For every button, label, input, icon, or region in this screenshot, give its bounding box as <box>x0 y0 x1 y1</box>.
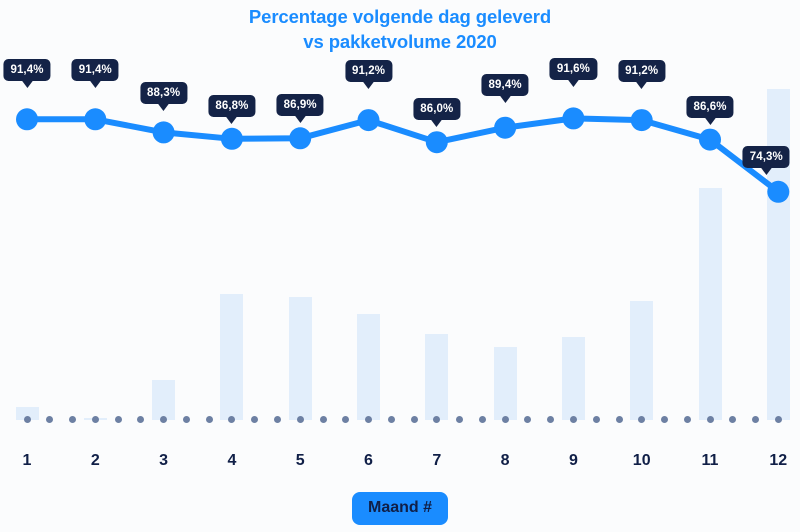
x-tick-label-4: 4 <box>227 452 236 470</box>
data-label-month-5: 86,9% <box>277 94 324 116</box>
x-axis-title-wrap: Maand # <box>0 492 800 525</box>
x-tick-label-9: 9 <box>569 452 578 470</box>
x-tick-label-11: 11 <box>702 452 719 470</box>
chart-container: Percentage volgende dag geleverd vs pakk… <box>0 0 800 532</box>
data-point-month-6[interactable] <box>358 109 380 131</box>
data-label-month-4: 86,8% <box>208 95 255 117</box>
data-label-month-9: 91,6% <box>550 58 597 80</box>
data-label-month-1: 91,4% <box>3 59 50 81</box>
plot-area: 91,4%91,4%88,3%86,8%86,9%91,2%86,0%89,4%… <box>0 0 800 452</box>
data-label-month-7: 86,0% <box>413 98 460 120</box>
data-point-month-10[interactable] <box>631 109 653 131</box>
x-tick-label-5: 5 <box>296 452 305 470</box>
line-series-percentage <box>0 0 800 452</box>
x-tick-label-3: 3 <box>159 452 168 470</box>
series-line-path <box>27 118 778 191</box>
x-tick-label-10: 10 <box>633 452 651 470</box>
data-label-month-6: 91,2% <box>345 60 392 82</box>
data-point-month-7[interactable] <box>426 131 448 153</box>
data-label-month-11: 86,6% <box>686 96 733 118</box>
data-point-month-11[interactable] <box>699 129 721 151</box>
data-point-month-5[interactable] <box>289 127 311 149</box>
data-label-month-10: 91,2% <box>618 60 665 82</box>
x-tick-label-7: 7 <box>432 452 441 470</box>
data-point-month-1[interactable] <box>16 108 38 130</box>
data-point-month-4[interactable] <box>221 128 243 150</box>
data-point-month-2[interactable] <box>84 108 106 130</box>
data-label-month-8: 89,4% <box>482 74 529 96</box>
data-point-month-12[interactable] <box>767 181 789 203</box>
x-tick-label-12: 12 <box>769 452 787 470</box>
x-tick-label-8: 8 <box>501 452 510 470</box>
data-point-month-3[interactable] <box>153 121 175 143</box>
data-point-month-8[interactable] <box>494 117 516 139</box>
x-tick-label-2: 2 <box>91 452 100 470</box>
data-label-month-12: 74,3% <box>743 146 790 168</box>
data-label-month-3: 88,3% <box>140 82 187 104</box>
x-axis-tick-labels: 123456789101112 <box>0 452 800 482</box>
data-label-month-2: 91,4% <box>72 59 119 81</box>
x-axis-title-badge[interactable]: Maand # <box>352 492 448 525</box>
series-markers <box>16 107 789 202</box>
x-tick-label-1: 1 <box>23 452 32 470</box>
data-point-month-9[interactable] <box>562 107 584 129</box>
x-tick-label-6: 6 <box>364 452 373 470</box>
